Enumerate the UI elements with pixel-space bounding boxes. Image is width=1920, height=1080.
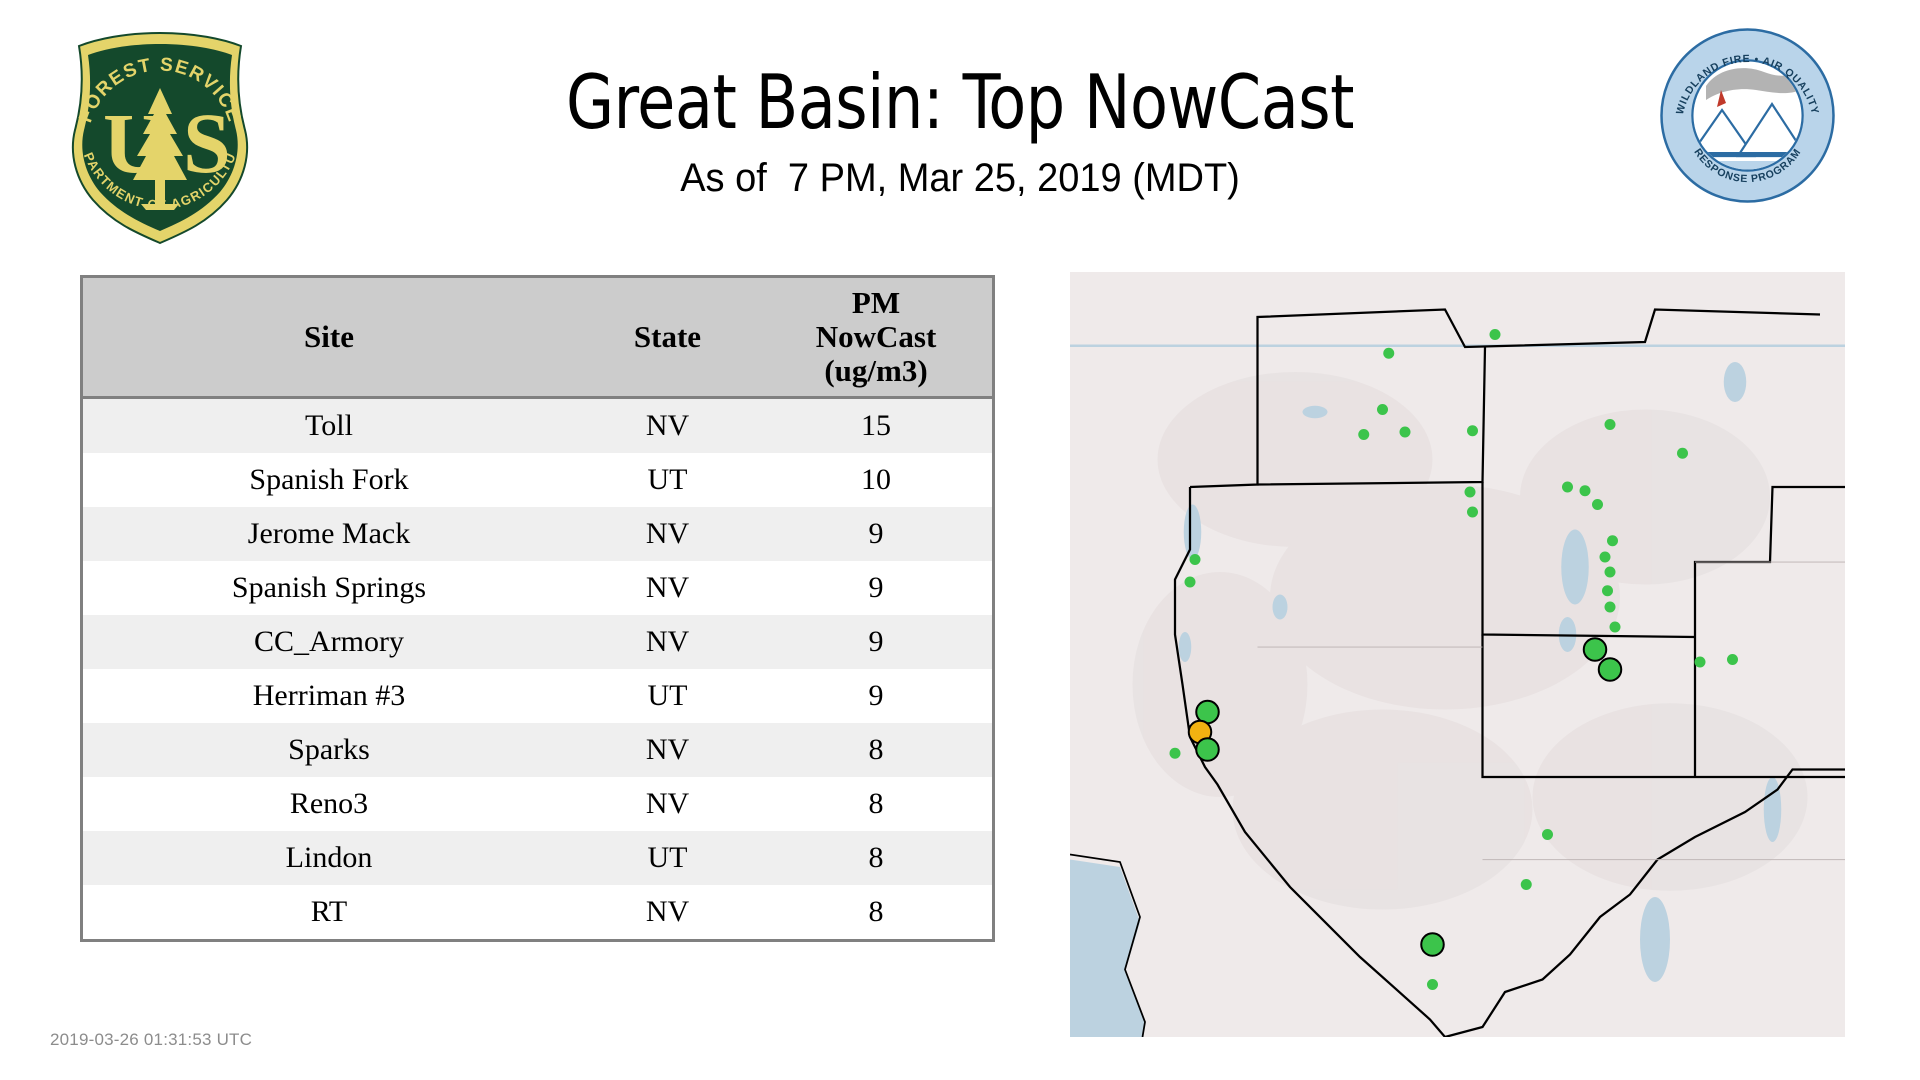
table-row[interactable]: LindonUT8 [83,831,992,885]
monitor-marker-small[interactable] [1467,507,1478,518]
monitor-marker-small[interactable] [1170,748,1181,759]
state-cell: NV [575,885,760,939]
page-title: Great Basin: Top NowCast [77,60,1843,144]
pm-header-line1: PM [852,285,900,320]
wfaqrp-badge-logo: WILDLAND FIRE • AIR QUALITY RESPONSE PRO… [1660,28,1835,203]
state-cell: UT [575,453,760,507]
column-header-site: Site [83,278,575,398]
monitor-marker-small[interactable] [1562,482,1573,493]
monitor-marker-small[interactable] [1605,567,1616,578]
state-cell: NV [575,561,760,615]
pm-value-cell: 10 [760,453,992,507]
state-cell: NV [575,777,760,831]
monitor-marker-small[interactable] [1695,657,1706,668]
table-row[interactable]: SparksNV8 [83,723,992,777]
monitor-marker-small[interactable] [1190,554,1201,565]
pm-value-cell: 9 [760,669,992,723]
state-cell: UT [575,669,760,723]
column-header-pm-nowcast: PM NowCast (ug/m3) [760,278,992,398]
table-row[interactable]: Spanish ForkUT10 [83,453,992,507]
site-cell: Spanish Fork [83,453,575,507]
footer-timestamp: 2019-03-26 01:31:53 UTC [50,1030,252,1050]
pm-header-line2: NowCast [816,319,937,354]
table-body: TollNV15Spanish ForkUT10Jerome MackNV9Sp… [83,398,992,940]
monitor-marker-small[interactable] [1580,485,1591,496]
state-cell: NV [575,723,760,777]
table-header-row: Site State PM NowCast (ug/m3) [83,278,992,398]
pm-value-cell: 9 [760,561,992,615]
pm-value-cell: 8 [760,885,992,939]
state-cell: NV [575,398,760,454]
monitor-marker-small[interactable] [1521,879,1532,890]
pm-value-cell: 8 [760,723,992,777]
monitor-marker-small[interactable] [1467,425,1478,436]
monitor-marker-small[interactable] [1727,654,1738,665]
page-subtitle: As of 7 PM, Mar 25, 2019 (MDT) [48,155,1872,201]
nowcast-table-container: Site State PM NowCast (ug/m3) TollNV15Sp… [80,275,995,942]
site-cell: Jerome Mack [83,507,575,561]
site-cell: Sparks [83,723,575,777]
column-header-state: State [575,278,760,398]
state-cell: UT [575,831,760,885]
state-cell: NV [575,507,760,561]
site-cell: RT [83,885,575,939]
monitor-marker-small[interactable] [1677,448,1688,459]
site-cell: Toll [83,398,575,454]
monitor-marker-small[interactable] [1377,404,1388,415]
table-row[interactable]: Reno3NV8 [83,777,992,831]
monitor-marker-small[interactable] [1605,602,1616,613]
monitor-marker-small[interactable] [1185,577,1196,588]
monitor-marker-large[interactable] [1196,738,1219,761]
site-cell: CC_Armory [83,615,575,669]
nowcast-table: Site State PM NowCast (ug/m3) TollNV15Sp… [83,278,992,939]
monitor-marker-small[interactable] [1383,348,1394,359]
monitor-marker-small[interactable] [1490,329,1501,340]
monitor-marker-small[interactable] [1602,585,1613,596]
site-cell: Reno3 [83,777,575,831]
pm-value-cell: 8 [760,777,992,831]
table-row[interactable]: TollNV15 [83,398,992,454]
table-row[interactable]: Spanish SpringsNV9 [83,561,992,615]
monitor-marker-small[interactable] [1605,419,1616,430]
site-cell: Herriman #3 [83,669,575,723]
monitor-marker-small[interactable] [1400,427,1411,438]
monitor-marker-large[interactable] [1584,638,1607,661]
monitor-marker-large[interactable] [1599,658,1622,681]
monitor-marker-small[interactable] [1542,829,1553,840]
monitor-marker-small[interactable] [1600,552,1611,563]
monitor-marker-small[interactable] [1465,487,1476,498]
pm-value-cell: 9 [760,615,992,669]
table-row[interactable]: RTNV8 [83,885,992,939]
monitor-marker-small[interactable] [1610,622,1621,633]
pm-value-cell: 8 [760,831,992,885]
monitor-marker-small[interactable] [1358,429,1369,440]
table-row[interactable]: Herriman #3UT9 [83,669,992,723]
great-basin-monitor-map[interactable] [1070,272,1845,1037]
table-row[interactable]: CC_ArmoryNV9 [83,615,992,669]
site-cell: Spanish Springs [83,561,575,615]
pm-value-cell: 9 [760,507,992,561]
table-row[interactable]: Jerome MackNV9 [83,507,992,561]
monitor-marker-large[interactable] [1421,933,1444,956]
monitor-marker-small[interactable] [1592,499,1603,510]
state-cell: NV [575,615,760,669]
monitor-marker-small[interactable] [1427,979,1438,990]
site-cell: Lindon [83,831,575,885]
pm-value-cell: 15 [760,398,992,454]
table-head: Site State PM NowCast (ug/m3) [83,278,992,398]
pm-header-line3: (ug/m3) [824,353,927,388]
slide-canvas: FOREST SERVICE U S DEPARTMENT OF AGRICUL… [0,0,1920,1080]
monitor-marker-small[interactable] [1607,535,1618,546]
